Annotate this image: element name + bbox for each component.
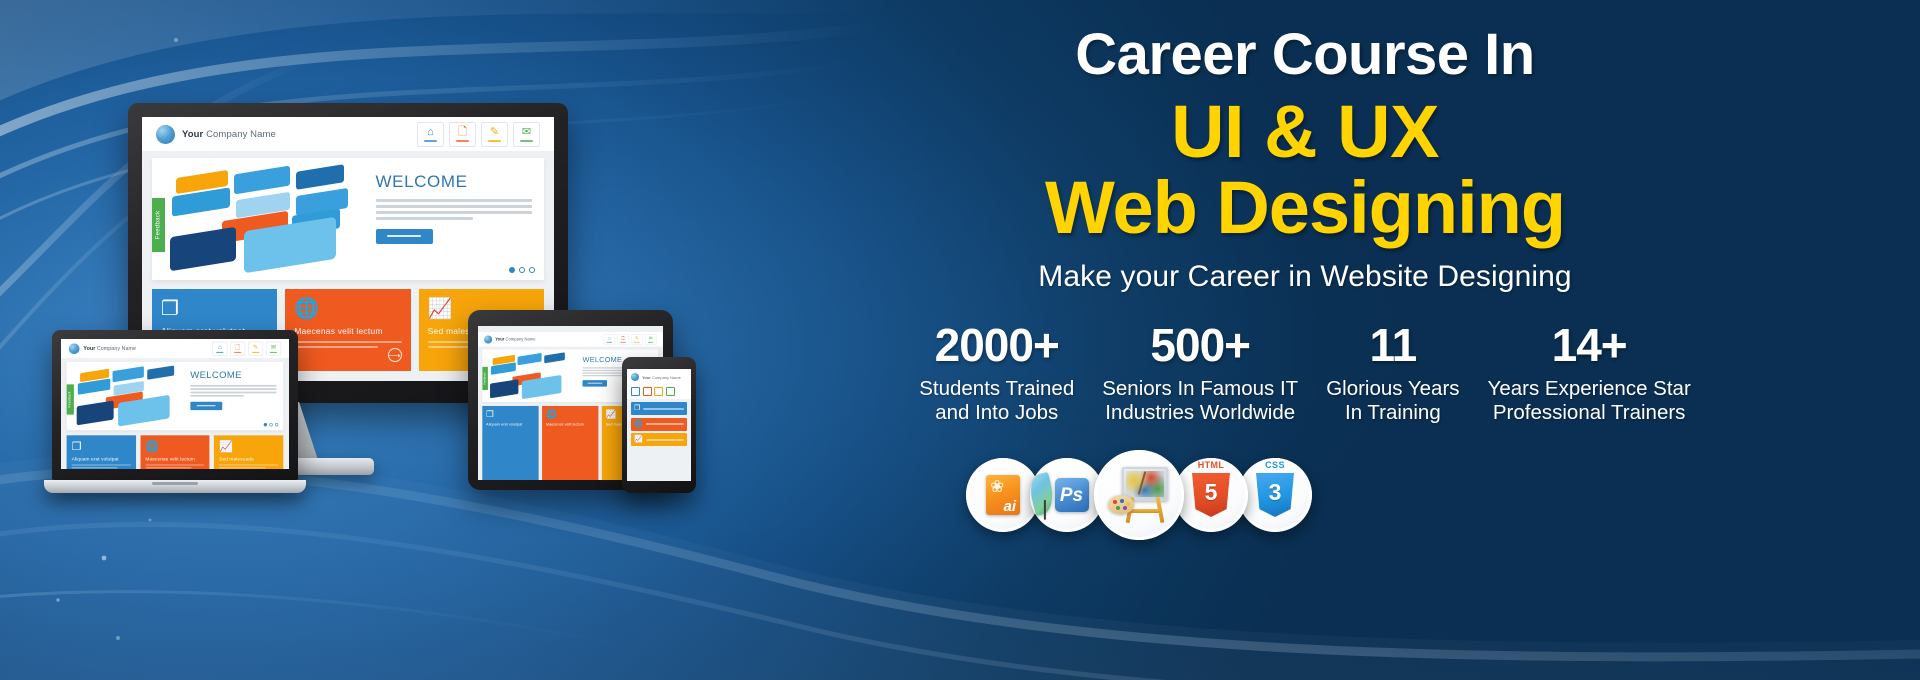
pencil-icon: ✎ xyxy=(253,344,258,350)
home-icon: ⌂ xyxy=(218,344,222,350)
chart-growth-icon: 📈 xyxy=(634,436,643,443)
laptop-lid: Your Company Name ⌂ 🗋 xyxy=(52,330,298,480)
software-badge-row: ❀ ai Ps xyxy=(966,450,1312,540)
nav-item-home[interactable]: ⌂ xyxy=(417,122,444,147)
feature-tile[interactable]: 📈 Sed malesuada xyxy=(214,435,283,469)
phone-body: Your Company Name ❐ 🌐 xyxy=(622,357,696,493)
palette-icon xyxy=(1108,495,1134,514)
nav-label xyxy=(252,352,259,353)
badge-graphic-design[interactable] xyxy=(1094,450,1184,540)
brand-bold: Your xyxy=(642,375,651,380)
slider-dot[interactable] xyxy=(264,423,267,426)
globe-icon: 🌐 xyxy=(546,410,595,419)
illustrator-label: ai xyxy=(1003,499,1016,514)
phone-feature-list: ❐ 🌐 📈 xyxy=(627,399,691,449)
headline-line-3: Web Designing xyxy=(1045,168,1565,248)
windows-icon: ❐ xyxy=(486,410,535,419)
site-nav: ⌂ 🗋 ✎ xyxy=(417,122,540,147)
brand-rest: Company Name xyxy=(95,345,136,351)
nav-item-blog[interactable]: ✎ xyxy=(481,122,508,147)
hero-title: WELCOME xyxy=(190,370,276,381)
laptop-screen: Your Company Name ⌂ 🗋 xyxy=(61,339,289,469)
feature-tiles: ❐ Aliquam erat volutpat 🌐 Maecenas velit… xyxy=(61,430,289,469)
nav-label xyxy=(607,342,613,343)
arrow-right-icon[interactable]: ⟶ xyxy=(388,348,402,362)
pencil-icon[interactable] xyxy=(654,387,663,396)
canvas-icon xyxy=(1122,467,1168,501)
slider-dots[interactable] xyxy=(264,423,279,426)
envelope-icon: ✉ xyxy=(271,344,276,350)
hero-title: WELCOME xyxy=(376,172,532,192)
tile-title: Sed malesuada xyxy=(219,456,278,462)
read-more-button[interactable] xyxy=(376,229,433,244)
globe-icon: 🌐 xyxy=(145,441,204,452)
logo-orb-icon xyxy=(69,343,80,354)
logo-orb-icon xyxy=(631,373,639,381)
photoshop-icon: Ps xyxy=(1046,478,1089,512)
subheadline: Make your Career in Website Designing xyxy=(1038,260,1571,294)
brand-bold: Your xyxy=(495,337,504,342)
document-icon: 🗋 xyxy=(235,344,240,350)
tile-title: Maecenas velit lectum xyxy=(546,422,595,426)
pencil-icon: ✎ xyxy=(490,127,499,138)
envelope-icon: ✉ xyxy=(649,336,653,341)
nav-label xyxy=(648,342,654,343)
phone-site-header: Your Company Name xyxy=(627,369,691,384)
document-icon: 🗋 xyxy=(621,336,625,341)
stat-label: Seniors In Famous IT Industries Worldwid… xyxy=(1102,377,1298,425)
slider-dot[interactable] xyxy=(269,423,272,426)
tile-title: Aliquam erat volutpat xyxy=(72,456,131,462)
html5-shield: 5 xyxy=(1192,473,1230,517)
device-mockup-cluster: Your Company Name ⌂ 🗋 xyxy=(0,0,760,680)
html5-icon: HTML 5 xyxy=(1192,473,1230,517)
photoshop-label: Ps xyxy=(1060,486,1083,505)
feature-tile[interactable]: ❐ Aliquam erat volutpat xyxy=(67,435,136,469)
css3-shield: 3 xyxy=(1256,473,1294,517)
phone-list-item[interactable]: 📈 xyxy=(631,433,687,446)
phone-list-item[interactable]: ❐ xyxy=(631,402,687,415)
badge-html5[interactable]: HTML 5 xyxy=(1174,458,1248,532)
site-header: Your Company Name ⌂ 🗋 xyxy=(478,332,663,347)
nav-item-home[interactable]: ⌂ xyxy=(212,342,227,356)
site-brand-text: Your Company Name xyxy=(495,337,535,342)
easel-crossbar xyxy=(1131,509,1159,513)
logo-orb-icon xyxy=(156,125,175,144)
nav-item-about[interactable]: 🗋 xyxy=(449,122,476,147)
badge-adobe-illustrator[interactable]: ❀ ai xyxy=(966,458,1040,532)
slider-dots[interactable] xyxy=(509,267,535,273)
stat-item: 14+ Years Experience Star Professional T… xyxy=(1474,322,1705,425)
nav-label xyxy=(270,352,277,353)
stat-label: Students Trained and Into Jobs xyxy=(919,377,1074,425)
statistics-row: 2000+ Students Trained and Into Jobs 500… xyxy=(690,322,1920,425)
nav-item-contact[interactable]: ✉ xyxy=(645,334,657,345)
site-header: Your Company Name ⌂ 🗋 xyxy=(61,339,289,358)
css3-version-label: 3 xyxy=(1269,481,1282,504)
headline-line-1: Career Course In xyxy=(1075,24,1534,87)
laptop-mockup: Your Company Name ⌂ 🗋 xyxy=(44,330,306,498)
nav-label xyxy=(620,342,626,343)
nav-item-home[interactable]: ⌂ xyxy=(604,334,616,345)
nav-item-blog[interactable]: ✎ xyxy=(631,334,643,345)
globe-icon: 🌐 xyxy=(294,299,401,319)
slider-dot[interactable] xyxy=(529,267,535,273)
tile-title: Aliquam erat volutpat xyxy=(486,422,535,426)
slider-dot[interactable] xyxy=(509,267,515,273)
brand-bold: Your xyxy=(182,129,203,140)
slider-dot[interactable] xyxy=(275,423,278,426)
windows-icon: ❐ xyxy=(72,441,131,452)
html5-tag-label: HTML xyxy=(1198,461,1225,470)
document-icon[interactable] xyxy=(643,387,652,396)
stat-number: 500+ xyxy=(1102,322,1298,368)
nav-item-about[interactable]: 🗋 xyxy=(230,342,245,356)
stat-number: 2000+ xyxy=(919,322,1074,368)
site-logo: Your Company Name xyxy=(69,343,136,354)
windows-icon: ❐ xyxy=(161,299,268,319)
hero-paragraph xyxy=(190,385,276,396)
hero-paragraph xyxy=(376,199,532,220)
hero-artwork xyxy=(152,158,372,280)
promo-banner: Your Company Name ⌂ 🗋 xyxy=(0,0,1920,680)
brand-rest: Company Name xyxy=(651,375,681,380)
site-brand-text: Your Company Name xyxy=(83,345,136,351)
stat-number: 14+ xyxy=(1488,322,1691,368)
read-more-button[interactable] xyxy=(583,380,608,386)
badge-adobe-photoshop[interactable]: Ps xyxy=(1030,458,1104,532)
chart-growth-icon: 📈 xyxy=(219,441,278,452)
home-icon[interactable] xyxy=(631,387,640,396)
home-icon: ⌂ xyxy=(608,336,611,341)
hero-slider: Feedback xyxy=(67,362,284,430)
logo-orb-icon xyxy=(484,335,492,343)
feature-tile[interactable]: 🌐 Maecenas velit lectum xyxy=(140,435,209,469)
site-logo: Your Company Name xyxy=(484,335,536,343)
site-logo: Your Company Name xyxy=(156,125,276,144)
feature-tile[interactable]: 🌐 Maecenas velit lectum xyxy=(542,406,598,480)
tile-title: Maecenas velit lectum xyxy=(294,326,401,336)
pencil-icon: ✎ xyxy=(635,336,639,341)
site-brand-text: Your Company Name xyxy=(182,129,276,140)
hero-slider: Feedback xyxy=(152,158,544,280)
nav-item-blog[interactable]: ✎ xyxy=(248,342,263,356)
site-header: Your Company Name ⌂ 🗋 xyxy=(142,117,554,151)
hero-artwork xyxy=(482,350,581,402)
stat-item: 11 Glorious Years In Training xyxy=(1312,322,1473,425)
nav-item-contact[interactable]: ✉ xyxy=(266,342,281,356)
stat-label: Years Experience Star Professional Train… xyxy=(1488,377,1691,425)
nav-label-home xyxy=(424,140,437,142)
hero-artwork xyxy=(67,362,188,430)
easel-icon xyxy=(1108,467,1170,523)
smartphone-mockup: Your Company Name ❐ 🌐 xyxy=(622,357,696,493)
hero-copy: WELCOME xyxy=(188,362,283,430)
slider-dot[interactable] xyxy=(519,267,525,273)
phone-list-item[interactable]: 🌐 xyxy=(631,418,687,431)
website-preview-laptop: Your Company Name ⌂ 🗋 xyxy=(61,339,289,469)
badge-css3[interactable]: CSS 3 xyxy=(1238,458,1312,532)
phone-brand-text: Your Company Name xyxy=(642,375,681,380)
nav-item-contact[interactable]: ✉ xyxy=(513,122,540,147)
stat-number: 11 xyxy=(1326,322,1459,368)
windows-icon: ❐ xyxy=(634,405,640,412)
nav-item-about[interactable]: 🗋 xyxy=(617,334,629,345)
envelope-icon[interactable] xyxy=(666,387,675,396)
illustrator-flower-glyph: ❀ xyxy=(990,478,1004,495)
nav-label-about xyxy=(456,140,469,142)
brand-rest: Company Name xyxy=(504,337,535,342)
illustrator-icon: ❀ ai xyxy=(986,475,1020,515)
feature-tile[interactable]: ❐ Aliquam erat volutpat xyxy=(482,406,538,480)
stat-item: 500+ Seniors In Famous IT Industries Wor… xyxy=(1088,322,1312,425)
nav-label xyxy=(216,352,223,353)
brand-rest: Company Name xyxy=(203,129,276,140)
css3-icon: CSS 3 xyxy=(1256,473,1294,517)
nav-label-blog xyxy=(488,140,501,142)
nav-label xyxy=(634,342,640,343)
nav-label-contact xyxy=(520,140,533,142)
envelope-icon: ✉ xyxy=(522,127,531,138)
site-nav: ⌂ 🗋 ✎ xyxy=(604,334,657,345)
photoshop-tile: Ps xyxy=(1055,478,1089,512)
nav-label xyxy=(234,352,241,353)
brand-bold: Your xyxy=(83,345,95,351)
read-more-button[interactable] xyxy=(190,401,222,409)
document-icon: 🗋 xyxy=(458,127,467,138)
banner-content: Career Course In UI & UX Web Designing M… xyxy=(690,0,1920,680)
css3-tag-label: CSS xyxy=(1265,461,1285,470)
stat-label: Glorious Years In Training xyxy=(1326,377,1459,425)
html5-version-label: 5 xyxy=(1205,481,1218,504)
hero-copy: WELCOME xyxy=(372,158,544,280)
tile-title: Maecenas velit lectum xyxy=(145,456,204,462)
home-icon: ⌂ xyxy=(427,127,434,138)
globe-icon: 🌐 xyxy=(634,421,643,428)
phone-nav xyxy=(627,384,691,399)
headline-line-2: UI & UX xyxy=(1171,91,1439,172)
phone-screen: Your Company Name ❐ 🌐 xyxy=(627,369,691,481)
laptop-deck xyxy=(44,480,306,493)
site-nav: ⌂ 🗋 ✎ xyxy=(212,342,281,356)
stat-item: 2000+ Students Trained and Into Jobs xyxy=(905,322,1088,425)
